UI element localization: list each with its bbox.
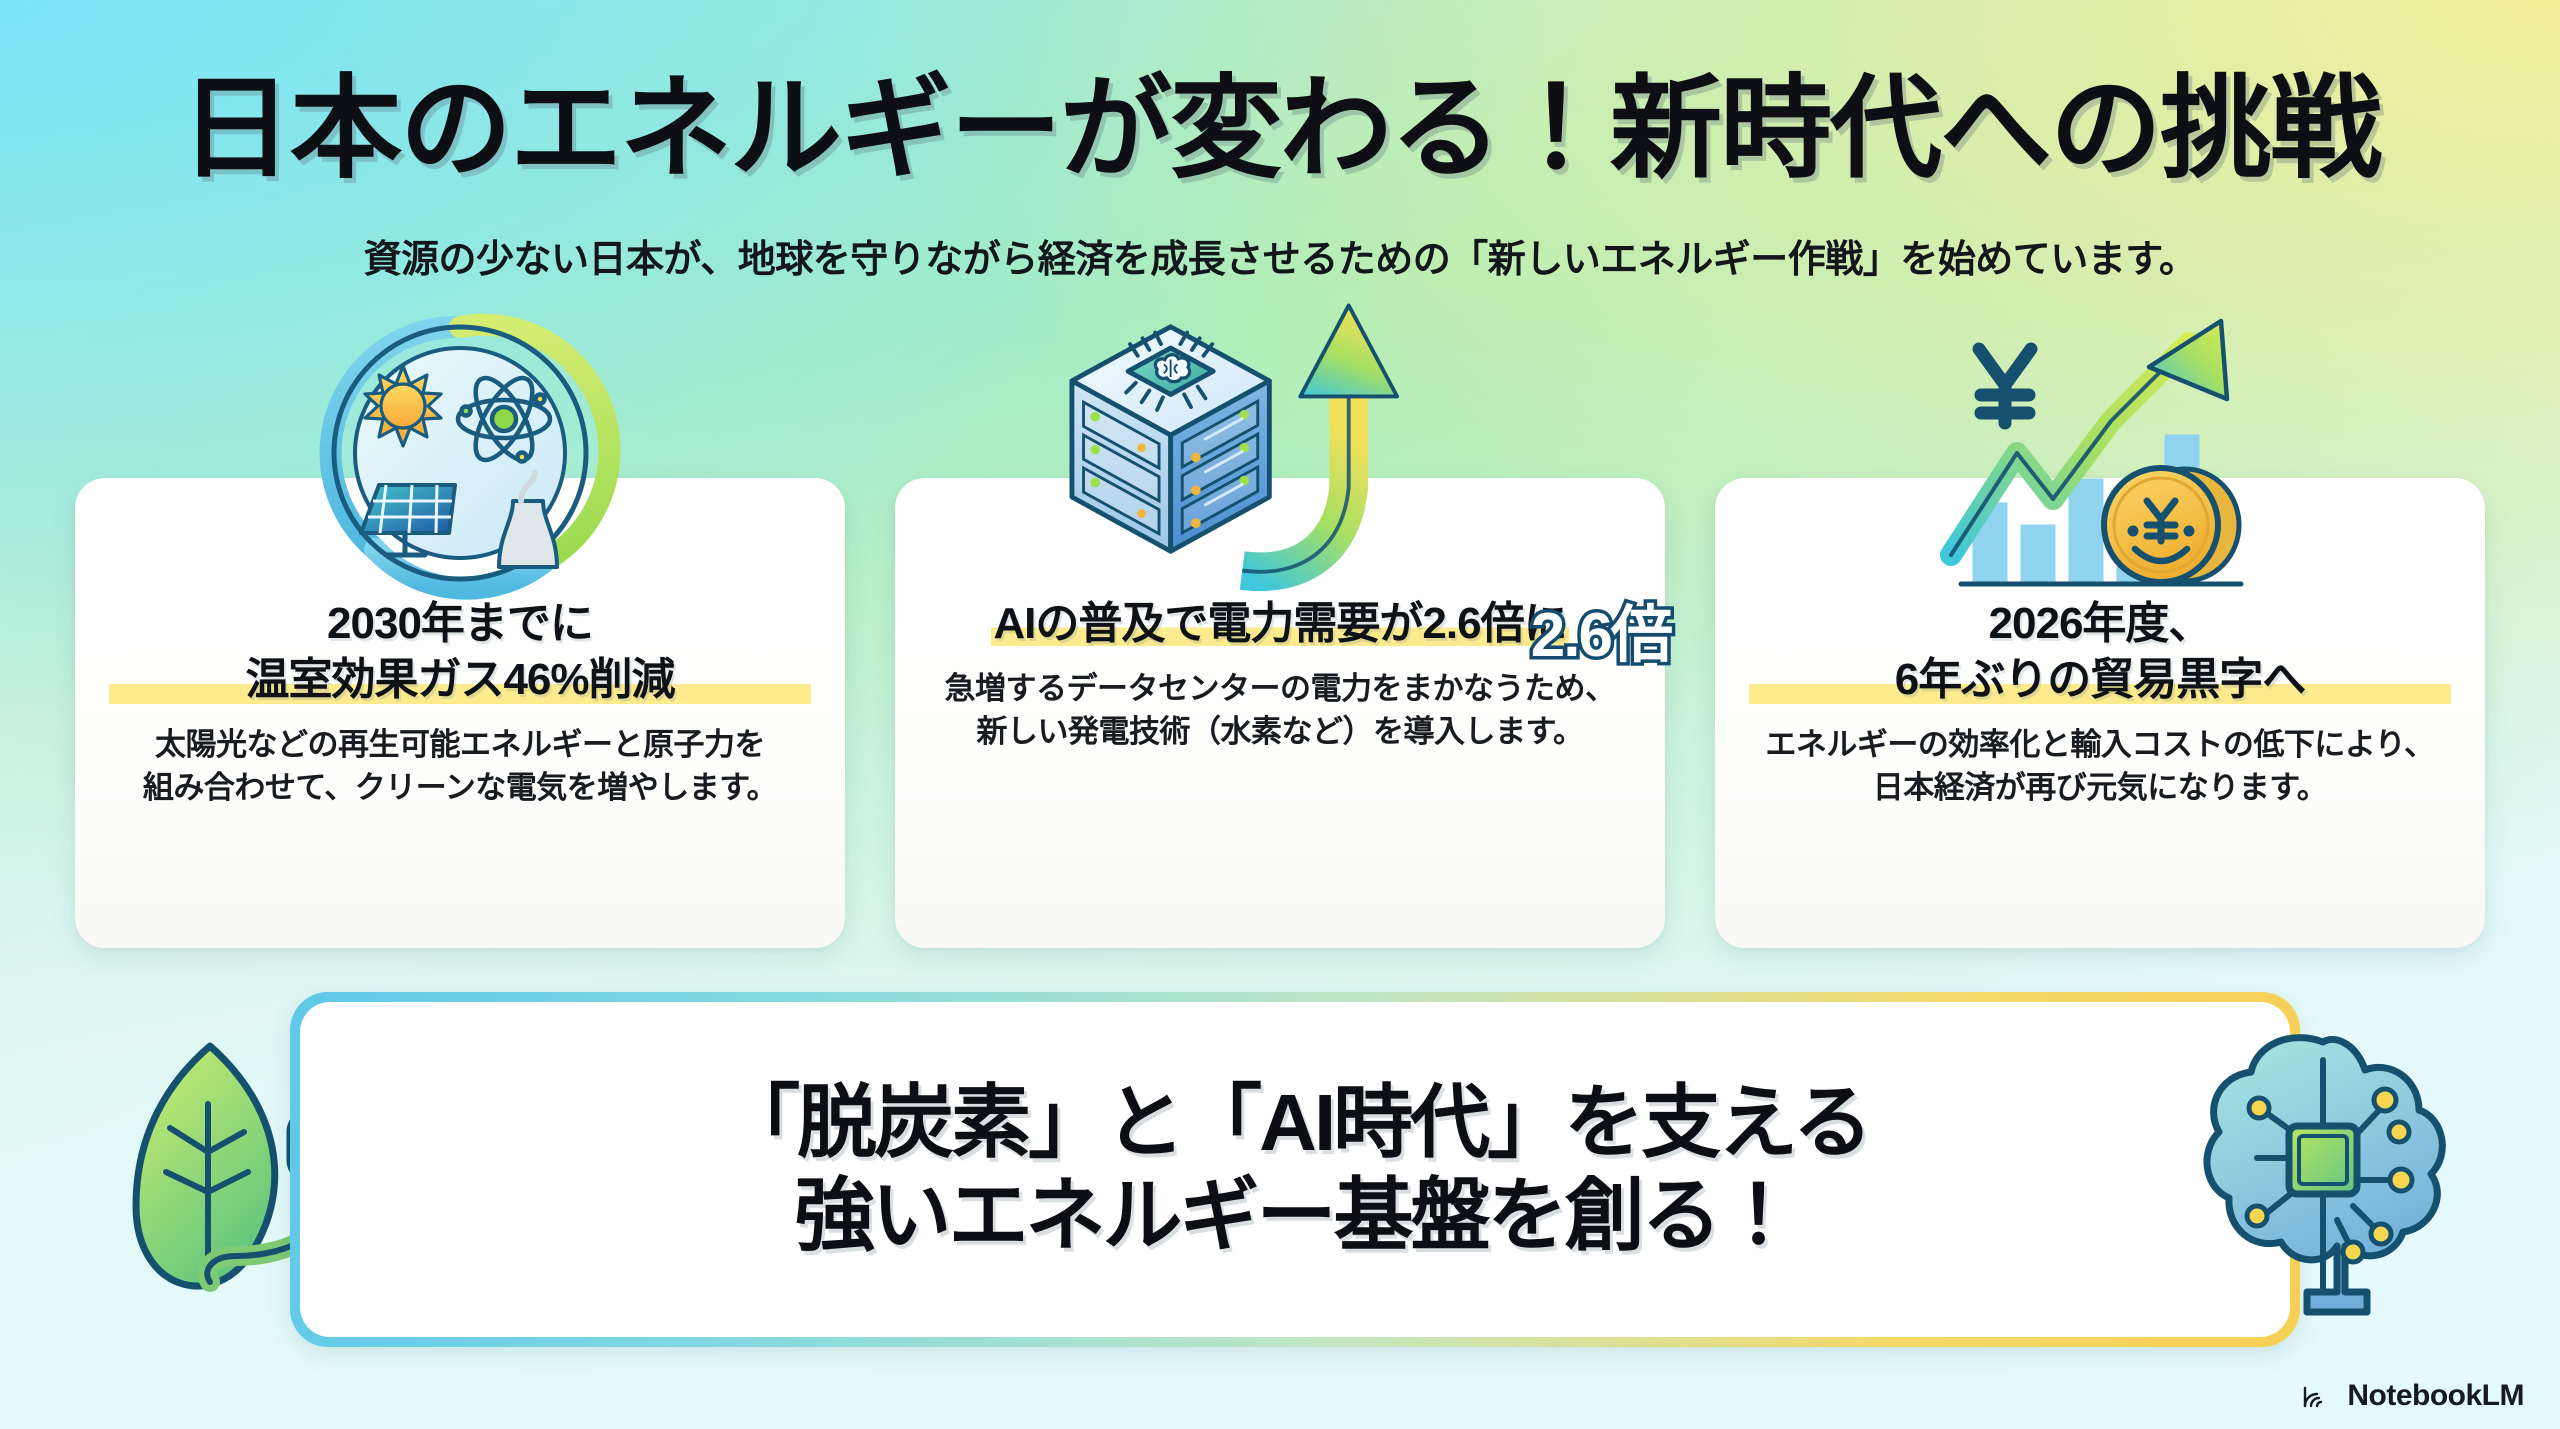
notebooklm-logo-icon (2301, 1382, 2335, 1410)
banner-frame: 「脱炭素」と「AI時代」を支える 強いエネルギー基盤を創る！ (290, 992, 2300, 1347)
card-body-line1: 太陽光などの再生可能エネルギーと原子力を (109, 724, 811, 767)
cards-row: 2030年までに 温室効果ガス46%削減 太陽光などの再生可能エネルギーと原子力… (75, 478, 2485, 948)
card-heading-line2: 温室効果ガス46%削減 (109, 654, 811, 706)
page-title: 日本のエネルギーが変わる！新時代への挑戦 (0, 38, 2560, 200)
summary-banner[interactable]: 「脱炭素」と「AI時代」を支える 強いエネルギー基盤を創る！ (290, 992, 2300, 1347)
infographic-poster: 日本のエネルギーが変わる！新時代への挑戦 資源の少ない日本が、地球を守りながら経… (0, 0, 2560, 1429)
notebooklm-watermark: NotebookLM (2301, 1379, 2524, 1413)
card-body-line2: 組み合わせて、クリーンな電気を増やします。 (109, 767, 811, 810)
card-body: エネルギーの効率化と輸入コストの低下により、 日本経済が再び元気になります。 (1749, 724, 2451, 810)
banner-line-1: 「脱炭素」と「AI時代」を支える (720, 1077, 1870, 1170)
banner-inner: 「脱炭素」と「AI時代」を支える 強いエネルギー基盤を創る！ (300, 1002, 2290, 1337)
banner-line-2: 強いエネルギー基盤を創る！ (720, 1170, 1870, 1263)
yen-trade-surplus-icon (1935, 303, 2265, 603)
card-body-line2: 新しい発電技術（水素など）を導入します。 (929, 711, 1631, 754)
card-heading: 2026年度、 6年ぶりの貿易黒字へ (1749, 598, 2451, 706)
ai-datacenter-growth-icon (1045, 288, 1515, 588)
header: 日本のエネルギーが変わる！新時代への挑戦 資源の少ない日本が、地球を守りながら経… (0, 0, 2560, 283)
card-emissions[interactable]: 2030年までに 温室効果ガス46%削減 太陽光などの再生可能エネルギーと原子力… (75, 478, 845, 948)
renewable-nuclear-circle-icon (295, 303, 625, 603)
card-body: 太陽光などの再生可能エネルギーと原子力を 組み合わせて、クリーンな電気を増やしま… (109, 724, 811, 810)
multiplier-badge: 2.6倍 (1531, 584, 1671, 674)
card-trade-surplus[interactable]: 2026年度、 6年ぶりの貿易黒字へ エネルギーの効率化と輸入コストの低下により… (1715, 478, 2485, 948)
card-heading-line1: AIの普及で電力需要が2.6倍に (991, 599, 1568, 648)
page-subtitle: 資源の少ない日本が、地球を守りながら経済を成長させるための「新しいエネルギー作戦… (0, 228, 2560, 283)
card-body-line1: エネルギーの効率化と輸入コストの低下により、 (1749, 724, 2451, 767)
card-heading-line2: 6年ぶりの貿易黒字へ (1749, 654, 2451, 706)
card-heading-line1: 2030年までに (327, 599, 593, 648)
card-heading: 2030年までに 温室効果ガス46%削減 (109, 598, 811, 706)
card-heading-line1: 2026年度、 (1989, 599, 2212, 648)
card-ai-power-demand[interactable]: 2.6倍 AIの普及で電力需要が2.6倍に 急増するデータセンターの電力をまかな… (895, 478, 1665, 948)
banner-text: 「脱炭素」と「AI時代」を支える 強いエネルギー基盤を創る！ (720, 1077, 1870, 1263)
ai-brain-chip-icon (2195, 1020, 2450, 1320)
card-heading: AIの普及で電力需要が2.6倍に (929, 598, 1631, 650)
card-body: 急増するデータセンターの電力をまかなうため、 新しい発電技術（水素など）を導入し… (929, 668, 1631, 754)
card-body-line1: 急増するデータセンターの電力をまかなうため、 (929, 668, 1631, 711)
card-body-line2: 日本経済が再び元気になります。 (1749, 767, 2451, 810)
notebooklm-label: NotebookLM (2347, 1379, 2524, 1413)
